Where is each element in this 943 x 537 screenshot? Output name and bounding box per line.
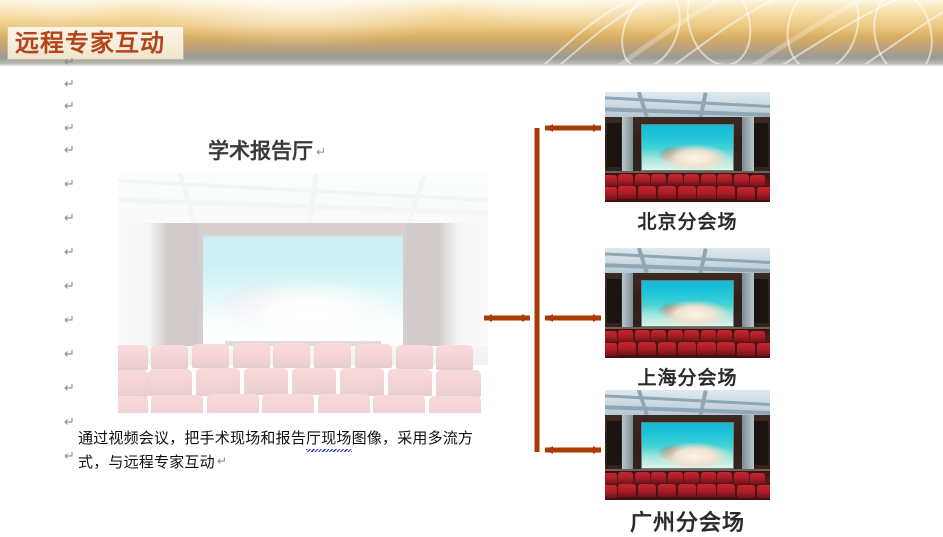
- thumb-right-panel: [754, 421, 769, 465]
- thumb-projection-screen: [641, 422, 733, 469]
- thumb-left-pillar: [622, 415, 634, 473]
- banner-bottom-divider: [0, 64, 943, 66]
- venue-label-beijing: 北京分会场: [605, 207, 770, 234]
- paragraph-mark: ↵: [64, 246, 86, 259]
- photo-projection-screen: [203, 235, 403, 347]
- banner-swirl-decoration: [523, 0, 943, 66]
- paragraph-mark: ↵: [64, 348, 86, 361]
- paragraph-mark: ↵: [217, 454, 227, 468]
- venue-card-shanghai[interactable]: 上海分会场: [605, 248, 770, 390]
- venue-thumbnail-beijing[interactable]: [605, 92, 770, 202]
- thumb-projection-screen: [641, 280, 733, 327]
- thumb-right-panel: [754, 123, 769, 167]
- thumb-right-pillar: [742, 273, 754, 331]
- main-figure-caption-text: 学术报告厅: [208, 138, 313, 163]
- main-figure-caption: 学术报告厅↵: [208, 135, 326, 165]
- paragraph-mark: ↵: [64, 382, 86, 395]
- thumb-left-panel: [607, 123, 622, 167]
- paragraph-mark-column: ↵ ↵ ↵ ↵ ↵ ↵ ↵ ↵ ↵ ↵ ↵ ↵ ↵ ↵: [64, 56, 86, 484]
- paragraph-mark: ↵: [64, 314, 86, 327]
- spellchecked-phrase: 厅现场: [306, 427, 352, 450]
- body-text-segment-1: 通过视频会议，把手术现场和报告: [78, 429, 306, 447]
- paragraph-mark: ↵: [316, 145, 326, 159]
- thumb-right-pillar: [742, 415, 754, 473]
- main-auditorium-image: [118, 173, 488, 413]
- venue-card-guangzhou[interactable]: 广州分会场: [605, 390, 770, 537]
- thumb-seating-area: [605, 471, 770, 500]
- venue-label-guangzhou: 广州分会场: [605, 505, 770, 537]
- thumb-right-panel: [754, 279, 769, 323]
- thumb-left-panel: [607, 421, 622, 465]
- venue-thumbnail-guangzhou[interactable]: [605, 390, 770, 500]
- paragraph-mark: ↵: [64, 100, 86, 113]
- venue-label-shanghai: 上海分会场: [605, 363, 770, 390]
- thumb-projection-screen: [641, 124, 733, 171]
- slide-title: 远程专家互动: [15, 31, 165, 55]
- paragraph-mark: ↵: [64, 212, 86, 225]
- photo-left-wall: [118, 223, 199, 360]
- slide-title-box: 远程专家互动: [8, 27, 183, 59]
- body-text-segment-2: 图像，采用多: [352, 429, 443, 447]
- paragraph-mark: ↵: [64, 56, 86, 69]
- venue-card-beijing[interactable]: 北京分会场: [605, 92, 770, 234]
- thumb-right-pillar: [742, 117, 754, 175]
- thumb-left-panel: [607, 279, 622, 323]
- paragraph-mark: ↵: [64, 122, 86, 135]
- photo-seating-area: [118, 341, 488, 413]
- auditorium-photo: [118, 173, 488, 413]
- slide-body-text: 通过视频会议，把手术现场和报告厅现场图像，采用多流方式，与远程专家互动↵: [78, 427, 478, 474]
- thumb-left-pillar: [622, 273, 634, 331]
- paragraph-mark: ↵: [64, 280, 86, 293]
- paragraph-mark: ↵: [64, 178, 86, 191]
- thumb-seating-area: [605, 329, 770, 358]
- venue-thumbnail-shanghai[interactable]: [605, 248, 770, 358]
- paragraph-mark: ↵: [64, 144, 86, 157]
- thumb-seating-area: [605, 173, 770, 202]
- paragraph-mark: ↵: [64, 78, 86, 91]
- thumb-left-pillar: [622, 117, 634, 175]
- photo-right-wall: [407, 223, 488, 360]
